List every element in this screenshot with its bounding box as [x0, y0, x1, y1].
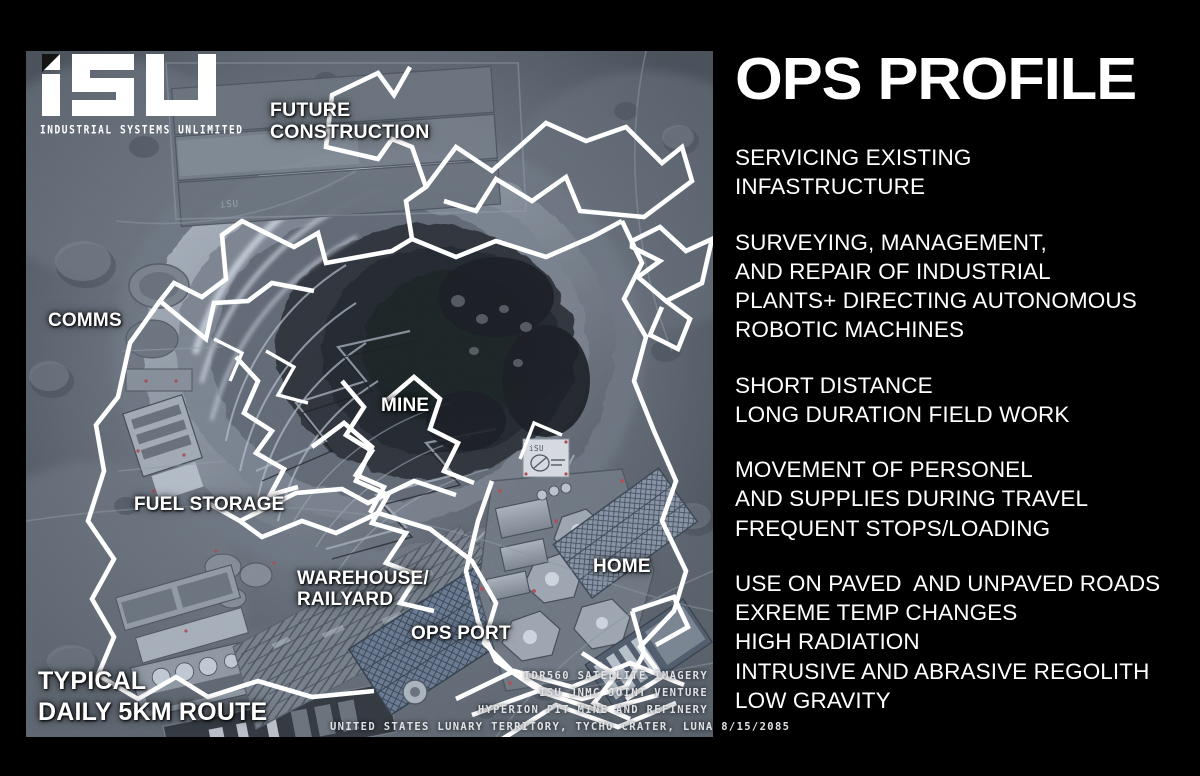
ops-profile-line: EXREME TEMP CHANGES	[735, 598, 1185, 627]
map-label-home: HOME	[593, 556, 651, 577]
caption-line: HYPERION PIT MINE AND REFINERY	[330, 702, 708, 719]
poster-root: iSU	[0, 0, 1200, 776]
ops-profile-block: MOVEMENT OF PERSONELAND SUPPLIES DURING …	[735, 455, 1185, 543]
ops-profile-line: AND REPAIR OF INDUSTRIAL	[735, 257, 1185, 286]
map-label-future-construction: FUTURE CONSTRUCTION	[270, 100, 429, 144]
ops-profile-line: ROBOTIC MACHINES	[735, 315, 1185, 344]
ops-profile-block: SERVICING EXISTINGINFASTRUCTURE	[735, 143, 1185, 202]
isu-logo-subtitle: INDUSTRIAL SYSTEMS UNLIMITED	[40, 124, 228, 137]
ops-profile-line: PLANTS+ DIRECTING AUTONOMOUS	[735, 286, 1185, 315]
ops-profile-line: SHORT DISTANCE	[735, 371, 1185, 400]
map-label-fuel-storage: FUEL STORAGE	[134, 494, 285, 515]
ops-profile-block: USE ON PAVED AND UNPAVED ROADSEXREME TEM…	[735, 569, 1185, 715]
ops-profile-panel: OPS PROFILE SERVICING EXISTINGINFASTRUCT…	[735, 50, 1185, 740]
map-label-mine: MINE	[381, 395, 429, 416]
ops-profile-line: INFASTRUCTURE	[735, 172, 1185, 201]
ops-profile-list: SERVICING EXISTINGINFASTRUCTURESURVEYING…	[735, 143, 1185, 715]
ops-profile-block: SURVEYING, MANAGEMENT,AND REPAIR OF INDU…	[735, 228, 1185, 345]
map-label-warehouse-railyard: WAREHOUSE/ RAILYARD	[297, 568, 429, 611]
ops-profile-line: LOW GRAVITY	[735, 686, 1185, 715]
caption-line: ISU JNMC JOINT VENTURE	[330, 685, 708, 702]
page-title: OPS PROFILE	[735, 50, 1200, 109]
satellite-map: iSU	[26, 51, 713, 737]
ops-profile-line: INTRUSIVE AND ABRASIVE REGOLITH	[735, 657, 1185, 686]
ops-profile-line: LONG DURATION FIELD WORK	[735, 400, 1185, 429]
isu-wordmark-icon	[38, 52, 224, 120]
map-label-comms: COMMS	[48, 310, 122, 331]
ops-profile-line: FREQUENT STOPS/LOADING	[735, 514, 1185, 543]
map-label-ops-port: OPS PORT	[411, 623, 511, 644]
ops-profile-block: SHORT DISTANCELONG DURATION FIELD WORK	[735, 371, 1185, 430]
ops-profile-line: HIGH RADIATION	[735, 627, 1185, 656]
caption-line: UNITED STATES LUNARY TERRITORY, TYCHO CR…	[330, 719, 708, 736]
ops-profile-line: MOVEMENT OF PERSONEL	[735, 455, 1185, 484]
ops-profile-line: USE ON PAVED AND UNPAVED ROADS	[735, 569, 1185, 598]
map-label-daily-route: TYPICAL DAILY 5KM ROUTE	[38, 666, 267, 727]
ops-profile-line: SURVEYING, MANAGEMENT,	[735, 228, 1185, 257]
isu-logo-mark	[38, 52, 224, 120]
map-caption: IDR560 SATELLITE IMAGERYISU JNMC JOINT V…	[330, 668, 708, 736]
caption-line: IDR560 SATELLITE IMAGERY	[330, 668, 708, 685]
ops-profile-line: SERVICING EXISTING	[735, 143, 1185, 172]
satellite-map-image: iSU	[26, 51, 713, 737]
isu-logo: INDUSTRIAL SYSTEMS UNLIMITED	[38, 52, 233, 144]
ops-profile-line: AND SUPPLIES DURING TRAVEL	[735, 484, 1185, 513]
